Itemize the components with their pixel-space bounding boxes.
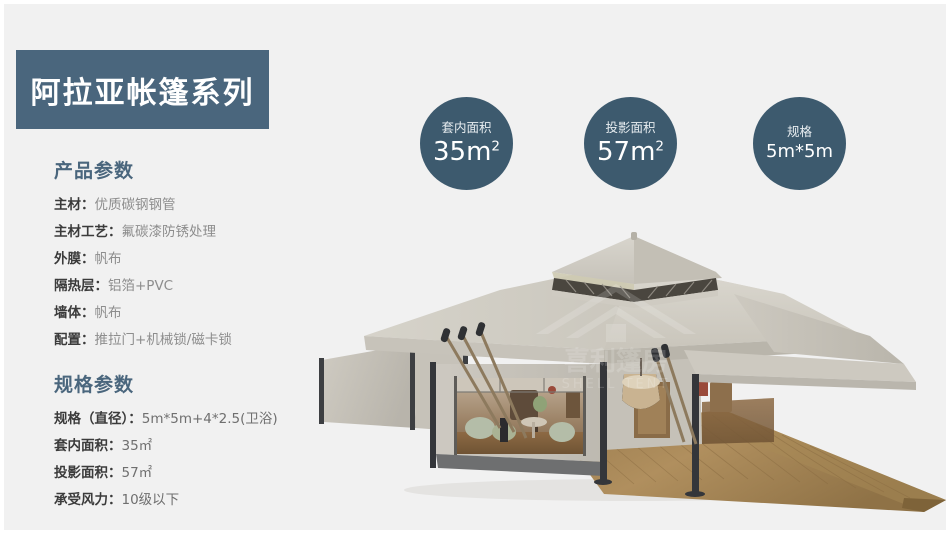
watermark-text: 喜利篷房 (564, 346, 668, 377)
spec-value: 推拉门+机械锁/磁卡锁 (95, 332, 232, 348)
right-cabinet (710, 382, 732, 412)
spec-label: 外膜： (54, 251, 95, 267)
spec-value: 57㎡ (122, 465, 153, 481)
badge-label: 套内面积 (441, 122, 491, 135)
upper-roof (552, 232, 722, 308)
badge-value: 57m2 (597, 139, 664, 165)
badge-value: 5m*5m (766, 143, 833, 161)
title-banner: 阿拉亚帐篷系列 (16, 50, 269, 129)
spec-value: 35㎡ (122, 438, 153, 454)
spec-value: 10级以下 (122, 492, 180, 508)
badge-interior-area: 套内面积 35m2 (420, 97, 513, 190)
badge-dimensions: 规格 5m*5m (753, 97, 846, 190)
spec-label: 规格（直径）： (54, 411, 142, 427)
spec-value: 帆布 (95, 251, 122, 267)
spec-label: 隔热层： (54, 278, 108, 294)
badge-label: 规格 (787, 126, 812, 139)
spec-value: 5m*5m+4*2.5(卫浴) (142, 411, 278, 427)
spec-label: 投影面积： (54, 465, 122, 481)
badge-label: 投影面积 (605, 122, 655, 135)
page-title: 阿拉亚帐篷系列 (31, 68, 255, 112)
spec-label: 墙体： (54, 305, 95, 321)
interior-plant (533, 396, 547, 412)
interior-sofa (465, 417, 495, 439)
slide-root: 阿拉亚帐篷系列 产品参数 主材：优质碳钢钢管 主材工艺：氟碳漆防锈处理 外膜：帆… (0, 0, 950, 534)
spec-value: 氟碳漆防锈处理 (122, 224, 217, 240)
tent-illustration: 喜利篷房 SHELL TENT (304, 232, 946, 518)
product-params-heading: 产品参数 (54, 156, 354, 183)
spec-label: 主材工艺： (54, 224, 122, 240)
badge-value: 35m2 (433, 139, 500, 165)
spec-value: 铝箔+PVC (108, 278, 173, 294)
badge-projected-area: 投影面积 57m2 (584, 97, 677, 190)
spec-label: 承受风力： (54, 492, 122, 508)
spec-label: 主材： (54, 197, 95, 213)
spec-value: 帆布 (95, 305, 122, 321)
slide-canvas: 阿拉亚帐篷系列 产品参数 主材：优质碳钢钢管 主材工艺：氟碳漆防锈处理 外膜：帆… (4, 4, 946, 530)
tent-render-svg: 喜利篷房 SHELL TENT (304, 232, 946, 518)
spec-label: 配置： (54, 332, 95, 348)
svg-text:SHELL TENT: SHELL TENT (562, 377, 671, 392)
spec-value: 优质碳钢钢管 (95, 197, 176, 213)
spec-label: 套内面积： (54, 438, 122, 454)
spec-row: 主材：优质碳钢钢管 (54, 192, 354, 219)
